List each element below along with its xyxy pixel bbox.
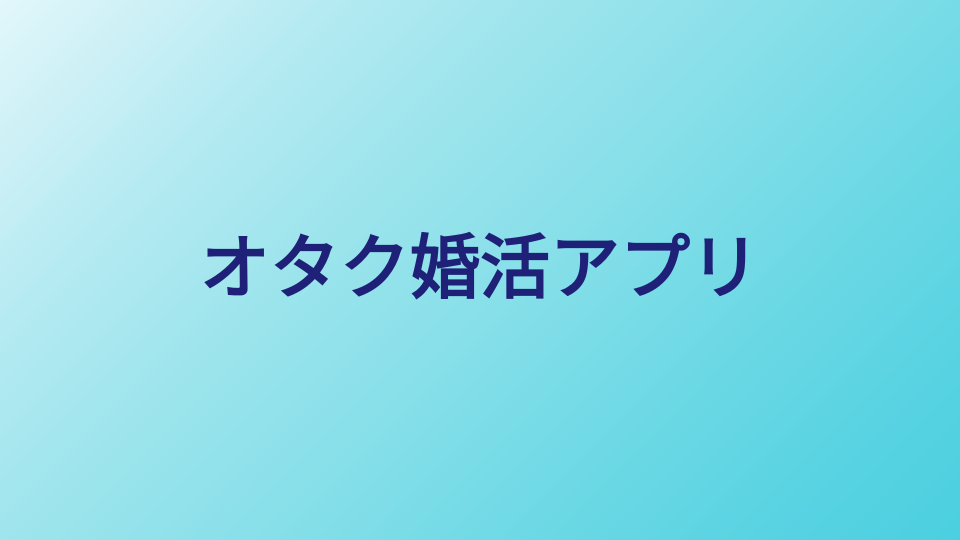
banner-headline: オタク婚活アプリ xyxy=(200,233,760,303)
banner-canvas: オタク婚活アプリ xyxy=(0,0,960,540)
headline-container: オタク婚活アプリ xyxy=(0,0,960,536)
